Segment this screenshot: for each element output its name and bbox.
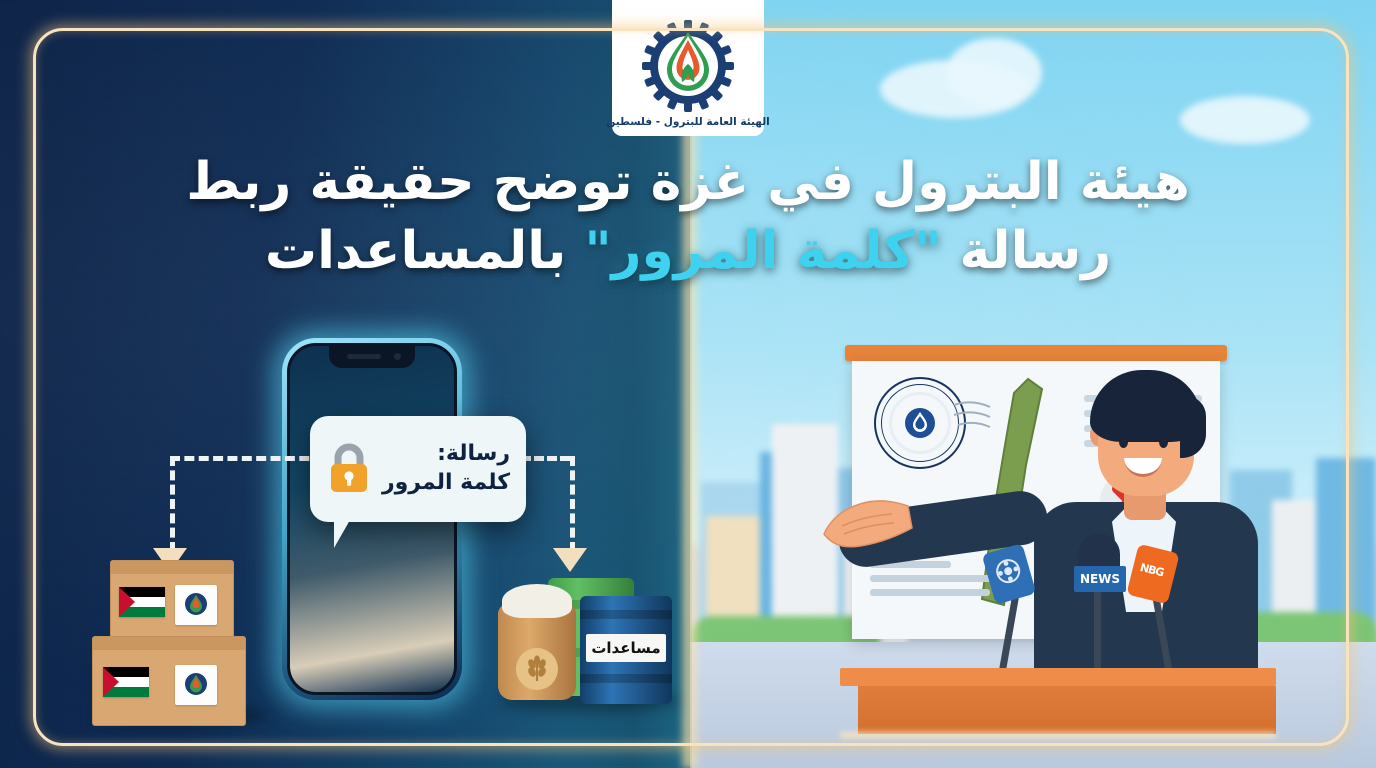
- barrel-label: مساعدات: [586, 634, 666, 662]
- gear-flame-mini-icon: [181, 591, 211, 619]
- headline-line2-after: بالمساعدات: [265, 221, 585, 281]
- wheat-emblem: [516, 648, 558, 690]
- mic-orange-label: NBG: [1139, 561, 1165, 579]
- palestine-flag-icon: [103, 667, 149, 697]
- motion-lines-icon: [952, 397, 992, 433]
- brand-logo-badge: الهيئة العامة للبترول - فلسطين: [612, 0, 764, 136]
- headline-line2-before: رسالة: [941, 221, 1111, 281]
- page-title: هيئة البترول في غزة توضح حقيقة ربط رسالة…: [0, 152, 1376, 283]
- bubble-line-2: كلمة المرور: [382, 469, 510, 498]
- petroleum-authority-gear-flame-logo-icon: [642, 20, 734, 112]
- arrow-to-barrels: [508, 456, 638, 574]
- brand-logo-caption: الهيئة العامة للبترول - فلسطين: [606, 116, 769, 128]
- padlock-icon: [326, 443, 372, 495]
- podium-body: [858, 686, 1276, 734]
- headline-highlight: "كلمة المرور": [584, 221, 941, 281]
- sack-opening: [502, 584, 572, 618]
- podium-glow: [840, 732, 1276, 738]
- crate-lid: [111, 561, 233, 574]
- flour-sack: [498, 604, 576, 700]
- bubble-line-1: رسالة:: [382, 440, 510, 469]
- podium-top: [840, 668, 1276, 686]
- eye: [1159, 436, 1168, 448]
- crate-lid: [93, 637, 245, 650]
- gear-flame-mini-icon: [181, 671, 211, 699]
- headline-line-2: رسالة "كلمة المرور" بالمساعدات: [0, 221, 1376, 282]
- spokesperson-figure: [1020, 352, 1270, 682]
- open-hand-icon: [820, 484, 916, 562]
- eye: [1119, 436, 1128, 448]
- broadcast-logo-icon: [992, 555, 1024, 587]
- mic-news: NEWS: [1074, 566, 1126, 592]
- bubble-text: رسالة: كلمة المرور: [382, 440, 510, 497]
- aid-boxes: [92, 560, 272, 725]
- headline-line-1: هيئة البترول في غزة توضح حقيقة ربط: [0, 152, 1376, 213]
- aid-barrel: مساعدات: [580, 596, 672, 704]
- poster-canvas: NEWS NBG رسالة: كلمة ال: [0, 0, 1376, 768]
- petroleum-authority-logo-icon: [175, 665, 217, 705]
- sms-speech-bubble: رسالة: كلمة المرور: [310, 416, 526, 522]
- petroleum-authority-logo-icon: [175, 585, 217, 625]
- phone-notch: [329, 346, 415, 368]
- hair: [1090, 370, 1202, 442]
- aid-box-upper: [110, 560, 234, 646]
- seal-gear-icon: [898, 401, 942, 445]
- aid-box-lower: [92, 636, 246, 726]
- palestine-flag-icon: [119, 587, 165, 617]
- wheat-icon: [524, 655, 550, 683]
